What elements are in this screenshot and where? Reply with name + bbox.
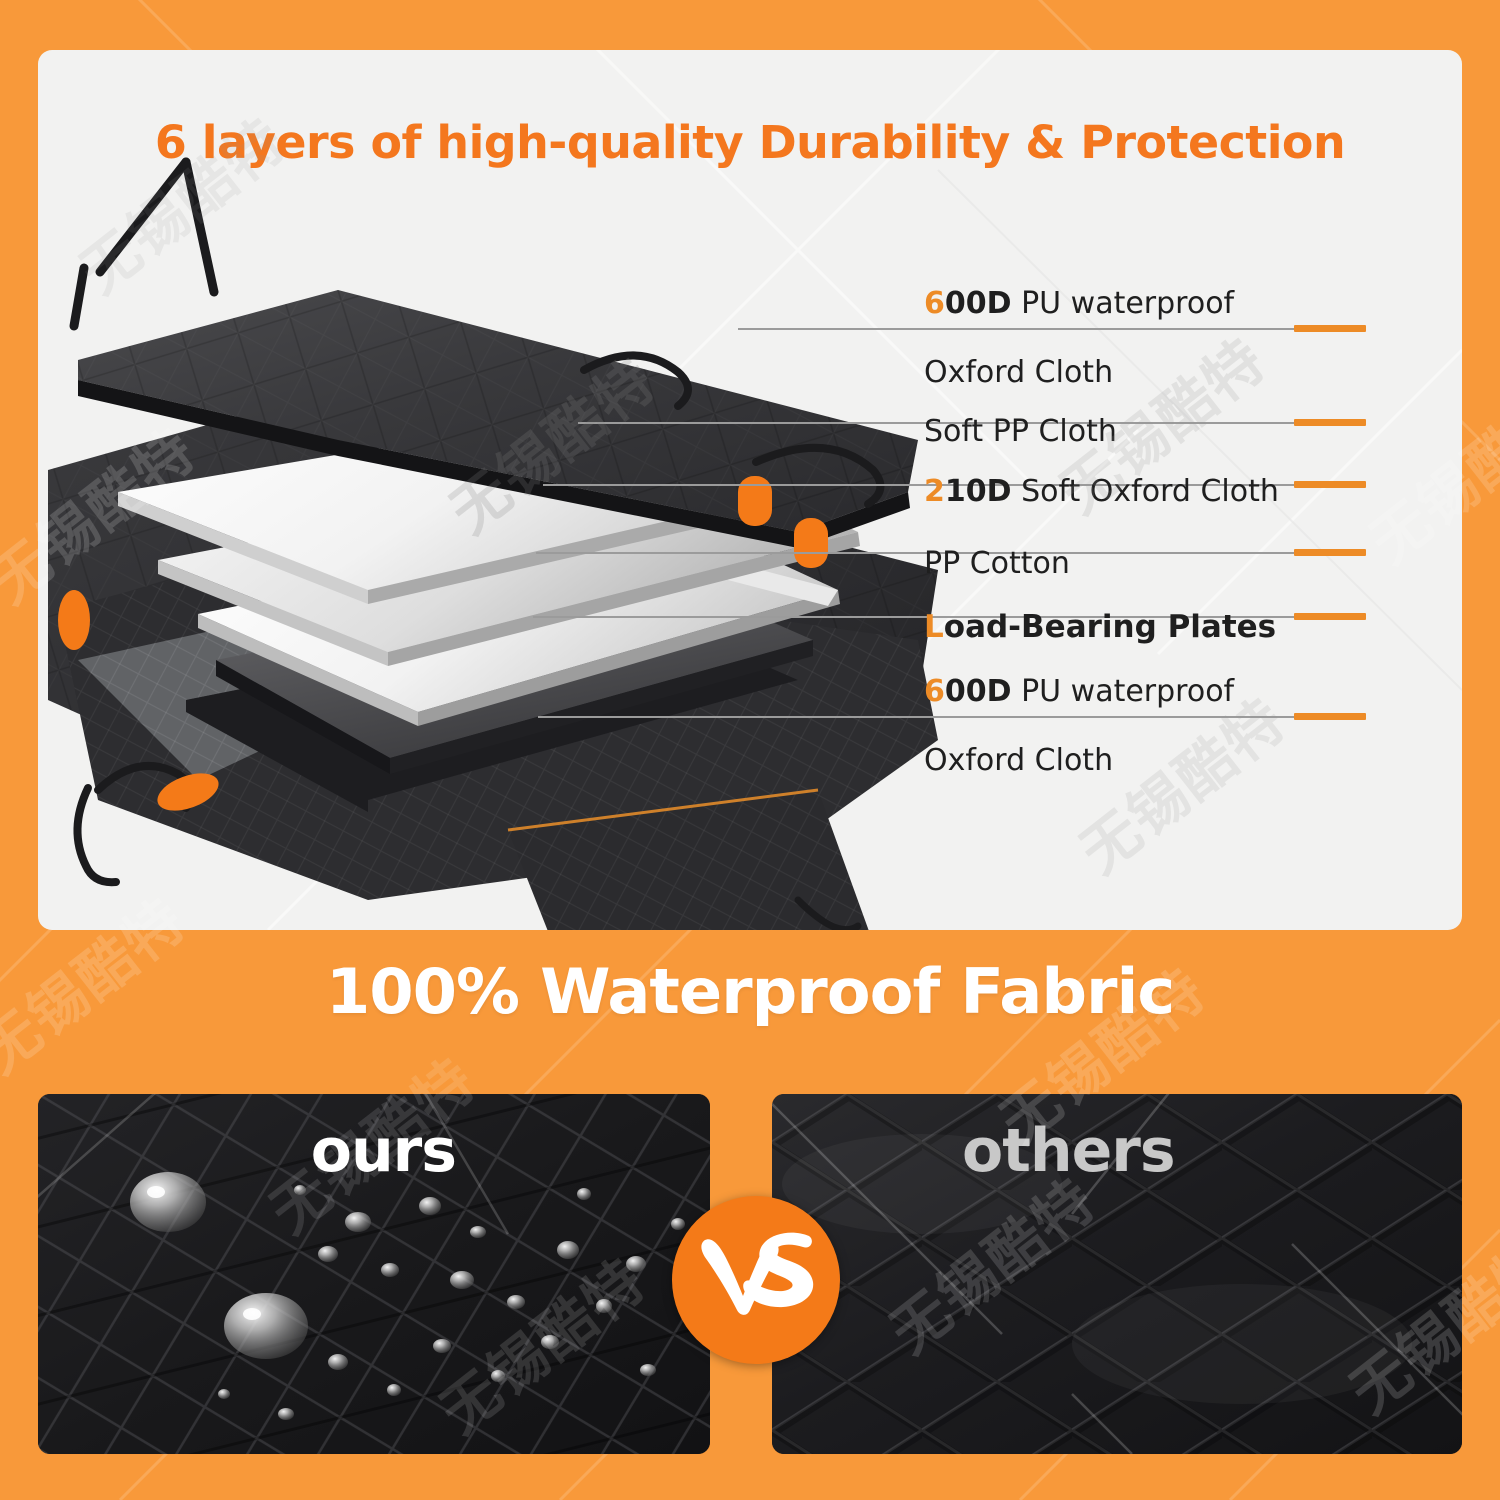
ours-label: ours bbox=[311, 1116, 456, 1186]
comparison-panel-ours: ours bbox=[38, 1094, 710, 1454]
vs-badge bbox=[672, 1196, 840, 1364]
waterproof-band-title: 100% Waterproof Fabric bbox=[0, 955, 1500, 1028]
layer-label-1-regular: PU waterproof bbox=[1012, 286, 1235, 321]
lead-cap-layer-4 bbox=[1294, 549, 1366, 556]
layer-label-5: Load-Bearing Plates bbox=[924, 574, 1276, 646]
layer-label-6-bold: 00D bbox=[945, 674, 1012, 709]
comparison-panel-others: others bbox=[772, 1094, 1462, 1454]
layer-label-4: PP Cotton bbox=[924, 512, 1070, 582]
layer-label-3-regular: Soft Oxford Cloth bbox=[1012, 474, 1279, 509]
lead-cap-layer-2 bbox=[1294, 419, 1366, 426]
layer-label-1-highlight: 6 bbox=[924, 286, 945, 321]
layer-label-6-regular: PU waterproof bbox=[1012, 674, 1235, 709]
layer-label-6-line2: Oxford Cloth bbox=[924, 743, 1113, 778]
lead-cap-layer-1 bbox=[1294, 325, 1366, 332]
layer-label-1-bold: 00D bbox=[945, 286, 1012, 321]
layer-label-3: 210D Soft Oxford Cloth bbox=[924, 440, 1279, 510]
lead-cap-layer-6 bbox=[1294, 713, 1366, 720]
layer-callouts: 600D PU waterproof Oxford Cloth Soft PP … bbox=[38, 50, 1462, 930]
layer-label-1: 600D PU waterproof Oxford Cloth bbox=[924, 252, 1234, 391]
layers-info-card: 600D PU waterproof Oxford Cloth Soft PP … bbox=[38, 50, 1462, 930]
layer-label-3-bold: 10D bbox=[945, 474, 1012, 509]
lead-cap-layer-5 bbox=[1294, 613, 1366, 620]
layer-label-6: 600D PU waterproof Oxford Cloth bbox=[924, 640, 1234, 779]
layer-label-3-highlight: 2 bbox=[924, 474, 945, 509]
layer-label-6-highlight: 6 bbox=[924, 674, 945, 709]
others-label: others bbox=[962, 1116, 1175, 1186]
vs-icon bbox=[691, 1220, 821, 1340]
lead-cap-layer-3 bbox=[1294, 481, 1366, 488]
